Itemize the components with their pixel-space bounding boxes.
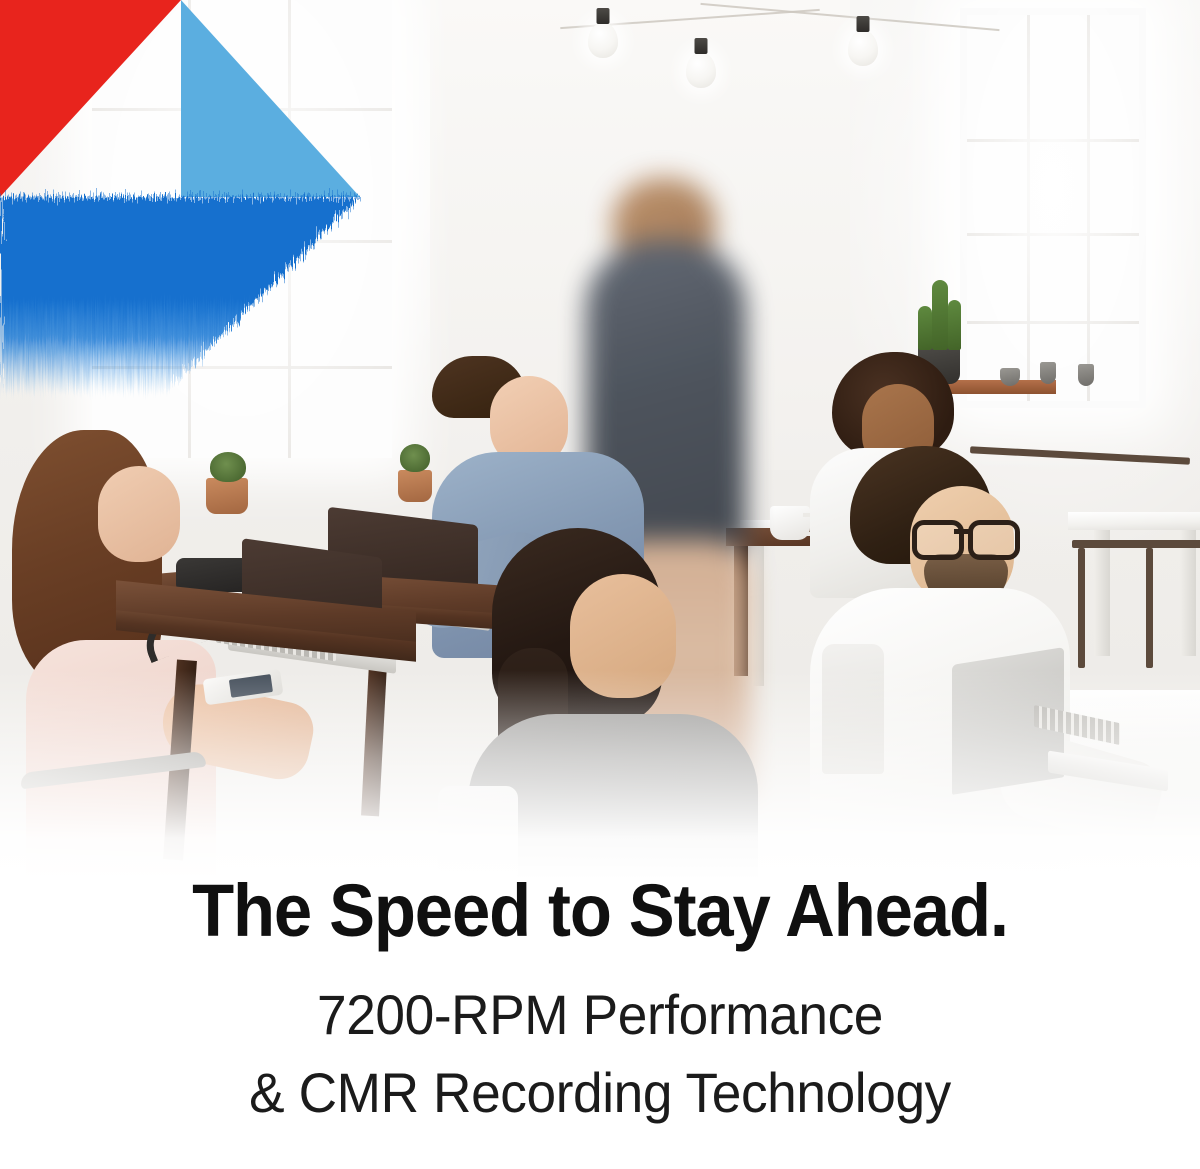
small-vase [1078, 364, 1094, 386]
light-bulb [686, 52, 716, 88]
hero-photo [0, 0, 1200, 880]
plant-leaves [400, 444, 430, 472]
bench-leg [1146, 548, 1153, 668]
subline-2: & CMR Recording Technology [30, 1054, 1170, 1132]
head [98, 466, 180, 562]
subline-1: 7200-RPM Performance [30, 976, 1170, 1054]
cactus-plant [918, 306, 932, 350]
small-vase [1040, 362, 1056, 384]
chair-right [822, 644, 884, 774]
cactus-plant [948, 300, 961, 350]
window-left [92, 0, 392, 458]
cactus-plant [932, 280, 948, 350]
desk-leg [1180, 530, 1196, 656]
person-woman-front [492, 528, 792, 880]
head [570, 574, 676, 698]
plant-pot [398, 470, 432, 502]
copy-block: The Speed to Stay Ahead. 7200-RPM Perfor… [0, 868, 1200, 1132]
chair-front [438, 786, 518, 878]
light-bulb [588, 22, 618, 58]
light-bulb [848, 30, 878, 66]
eyeglasses [912, 520, 1020, 550]
window-right [960, 8, 1146, 408]
headline: The Speed to Stay Ahead. [42, 868, 1158, 954]
product-banner: The Speed to Stay Ahead. 7200-RPM Perfor… [0, 0, 1200, 1169]
